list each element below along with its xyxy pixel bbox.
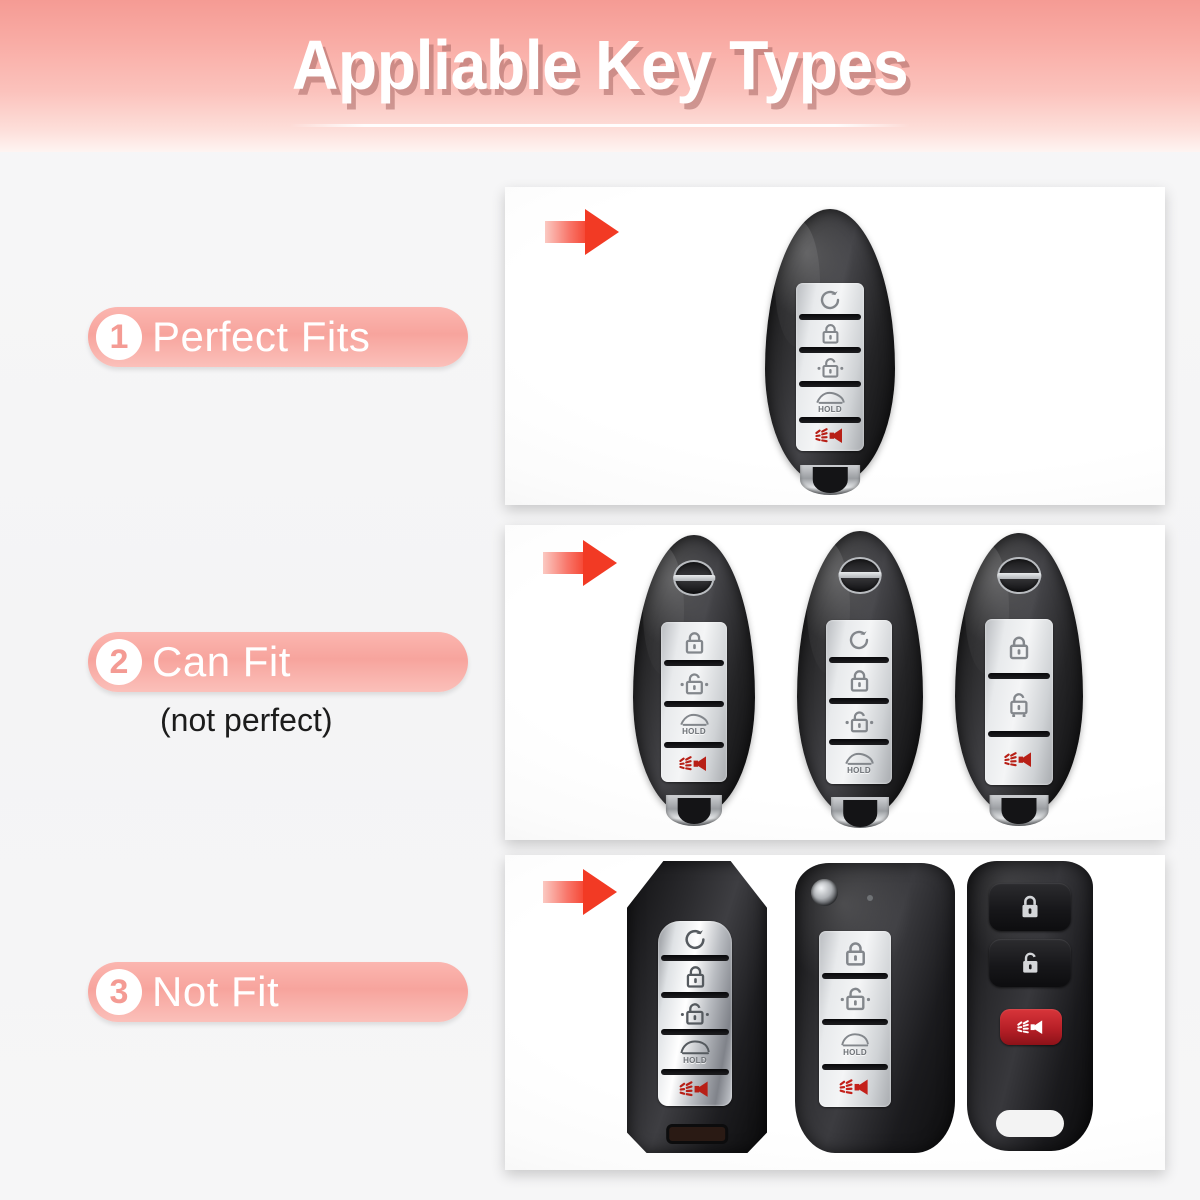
hatch-icon bbox=[679, 1039, 711, 1056]
trunk-icon bbox=[844, 751, 874, 766]
trunk-hold-button[interactable]: HOLD bbox=[661, 704, 727, 746]
lock-icon bbox=[685, 965, 706, 988]
badge-number-2: 2 bbox=[96, 639, 142, 685]
button-stack[interactable]: HOLD bbox=[658, 921, 732, 1106]
hatch-icon bbox=[839, 1032, 871, 1048]
panic-button[interactable] bbox=[1000, 1009, 1062, 1045]
badge-number-3: 3 bbox=[96, 969, 142, 1015]
lock-button[interactable] bbox=[826, 660, 892, 701]
remote-start-icon bbox=[847, 629, 871, 651]
key-fob-canfit-3[interactable] bbox=[955, 533, 1083, 815]
key-fob-notfit-3[interactable] bbox=[967, 861, 1093, 1151]
remote-start-icon bbox=[818, 289, 842, 311]
unlock-icon bbox=[680, 672, 709, 695]
key-fob-canfit-2[interactable]: HOLD bbox=[797, 531, 923, 817]
key-panel-can-fit: HOLD bbox=[505, 525, 1165, 840]
key-fob-canfit-1[interactable]: HOLD bbox=[633, 535, 755, 815]
key-fob-notfit-2[interactable]: HOLD bbox=[795, 863, 955, 1153]
panic-alarm-icon bbox=[679, 754, 709, 773]
panic-alarm-icon bbox=[1004, 750, 1034, 769]
button-stack[interactable]: HOLD bbox=[661, 622, 727, 782]
badge-not-fit[interactable]: 3 Not Fit bbox=[88, 962, 468, 1022]
unlock-icon bbox=[1019, 950, 1042, 976]
button-stack[interactable]: HOLD bbox=[819, 931, 891, 1107]
trunk-icon bbox=[815, 390, 845, 405]
lock-icon bbox=[1008, 635, 1030, 660]
key-fob-notfit-1[interactable]: HOLD bbox=[627, 861, 767, 1153]
lock-icon bbox=[844, 941, 867, 966]
button-stack[interactable]: HOLD bbox=[826, 620, 892, 784]
button-stack[interactable]: HOLD bbox=[796, 283, 864, 451]
key-panel-not-fit: HOLD bbox=[505, 855, 1165, 1170]
badge-label-3: Not Fit bbox=[152, 971, 279, 1013]
nissan-emblem-icon bbox=[673, 560, 714, 596]
unlock-icon bbox=[1004, 692, 1034, 717]
hatch-hold-button[interactable]: HOLD bbox=[658, 1032, 732, 1072]
lock-icon bbox=[849, 669, 870, 692]
page-title: Appliable Key Types bbox=[48, 24, 1152, 106]
unlock-icon bbox=[845, 710, 874, 733]
infographic-page: Appliable Key Types 1 Perfect Fits 2 Can… bbox=[0, 0, 1200, 1200]
panic-button[interactable] bbox=[658, 1072, 732, 1106]
pointer-arrow-icon bbox=[543, 540, 619, 586]
pointer-arrow-icon bbox=[545, 209, 621, 255]
lock-button[interactable] bbox=[989, 883, 1071, 931]
unlock-button[interactable] bbox=[989, 939, 1071, 987]
unlock-icon bbox=[817, 357, 844, 378]
category-label-2: 2 Can Fit (not perfect) bbox=[88, 632, 468, 739]
unlock-icon bbox=[680, 1002, 710, 1025]
panic-alarm-icon bbox=[1017, 1018, 1045, 1036]
remote-start-icon bbox=[682, 928, 708, 951]
remote-start-button[interactable] bbox=[658, 921, 732, 958]
badge-label-2: Can Fit bbox=[152, 641, 291, 683]
panic-button[interactable] bbox=[796, 420, 864, 451]
key-fob-perfect-1[interactable]: HOLD bbox=[765, 209, 895, 484]
lock-icon bbox=[684, 631, 705, 654]
panic-button[interactable] bbox=[661, 745, 727, 782]
panic-alarm-icon bbox=[815, 426, 845, 445]
hold-label: HOLD bbox=[818, 406, 842, 414]
unlock-button[interactable] bbox=[819, 976, 891, 1021]
lock-button[interactable] bbox=[661, 622, 727, 663]
key-blade-tip bbox=[990, 795, 1049, 826]
unlock-button[interactable] bbox=[661, 663, 727, 704]
hold-label: HOLD bbox=[683, 1057, 707, 1065]
badge-label-1: Perfect Fits bbox=[152, 316, 370, 358]
category-label-3: 3 Not Fit bbox=[88, 962, 468, 1022]
trunk-hold-button[interactable]: HOLD bbox=[796, 384, 864, 420]
hold-label: HOLD bbox=[847, 767, 871, 775]
button-stack[interactable] bbox=[985, 619, 1053, 785]
trunk-hold-button[interactable]: HOLD bbox=[826, 742, 892, 784]
remote-start-button[interactable] bbox=[826, 620, 892, 660]
badge-can-fit[interactable]: 2 Can Fit bbox=[88, 632, 468, 692]
nissan-emblem-icon bbox=[997, 557, 1041, 594]
lock-button[interactable] bbox=[819, 931, 891, 976]
nissan-emblem-icon bbox=[839, 557, 882, 594]
lock-button[interactable] bbox=[985, 619, 1053, 676]
unlock-icon bbox=[840, 986, 871, 1011]
lock-button[interactable] bbox=[658, 958, 732, 995]
key-ring-slot bbox=[666, 1124, 728, 1144]
lock-icon bbox=[1019, 894, 1041, 920]
panic-alarm-icon bbox=[679, 1079, 711, 1099]
pointer-arrow-icon bbox=[543, 869, 619, 915]
panic-button[interactable] bbox=[985, 734, 1053, 785]
key-ring-slot bbox=[996, 1110, 1064, 1136]
badge-sublabel-2: (not perfect) bbox=[160, 702, 468, 739]
remote-start-button[interactable] bbox=[796, 283, 864, 317]
lock-button[interactable] bbox=[796, 317, 864, 350]
hatch-hold-button[interactable]: HOLD bbox=[819, 1022, 891, 1067]
title-underline bbox=[290, 124, 910, 127]
key-blade-tip bbox=[666, 795, 722, 826]
unlock-button[interactable] bbox=[985, 676, 1053, 733]
key-blade-tip bbox=[800, 465, 860, 495]
header-banner: Appliable Key Types bbox=[0, 0, 1200, 152]
category-label-1: 1 Perfect Fits bbox=[88, 307, 468, 367]
unlock-button[interactable] bbox=[826, 701, 892, 742]
unlock-button[interactable] bbox=[796, 350, 864, 383]
panic-button[interactable] bbox=[819, 1067, 891, 1107]
hold-label: HOLD bbox=[843, 1049, 867, 1057]
badge-perfect-fits[interactable]: 1 Perfect Fits bbox=[88, 307, 468, 367]
hold-label: HOLD bbox=[682, 728, 706, 736]
lock-icon bbox=[821, 323, 840, 344]
unlock-button[interactable] bbox=[658, 995, 732, 1032]
key-panel-perfect-fits: HOLD bbox=[505, 187, 1165, 505]
trunk-icon bbox=[679, 712, 709, 727]
badge-number-1: 1 bbox=[96, 314, 142, 360]
panic-alarm-icon bbox=[839, 1077, 871, 1097]
